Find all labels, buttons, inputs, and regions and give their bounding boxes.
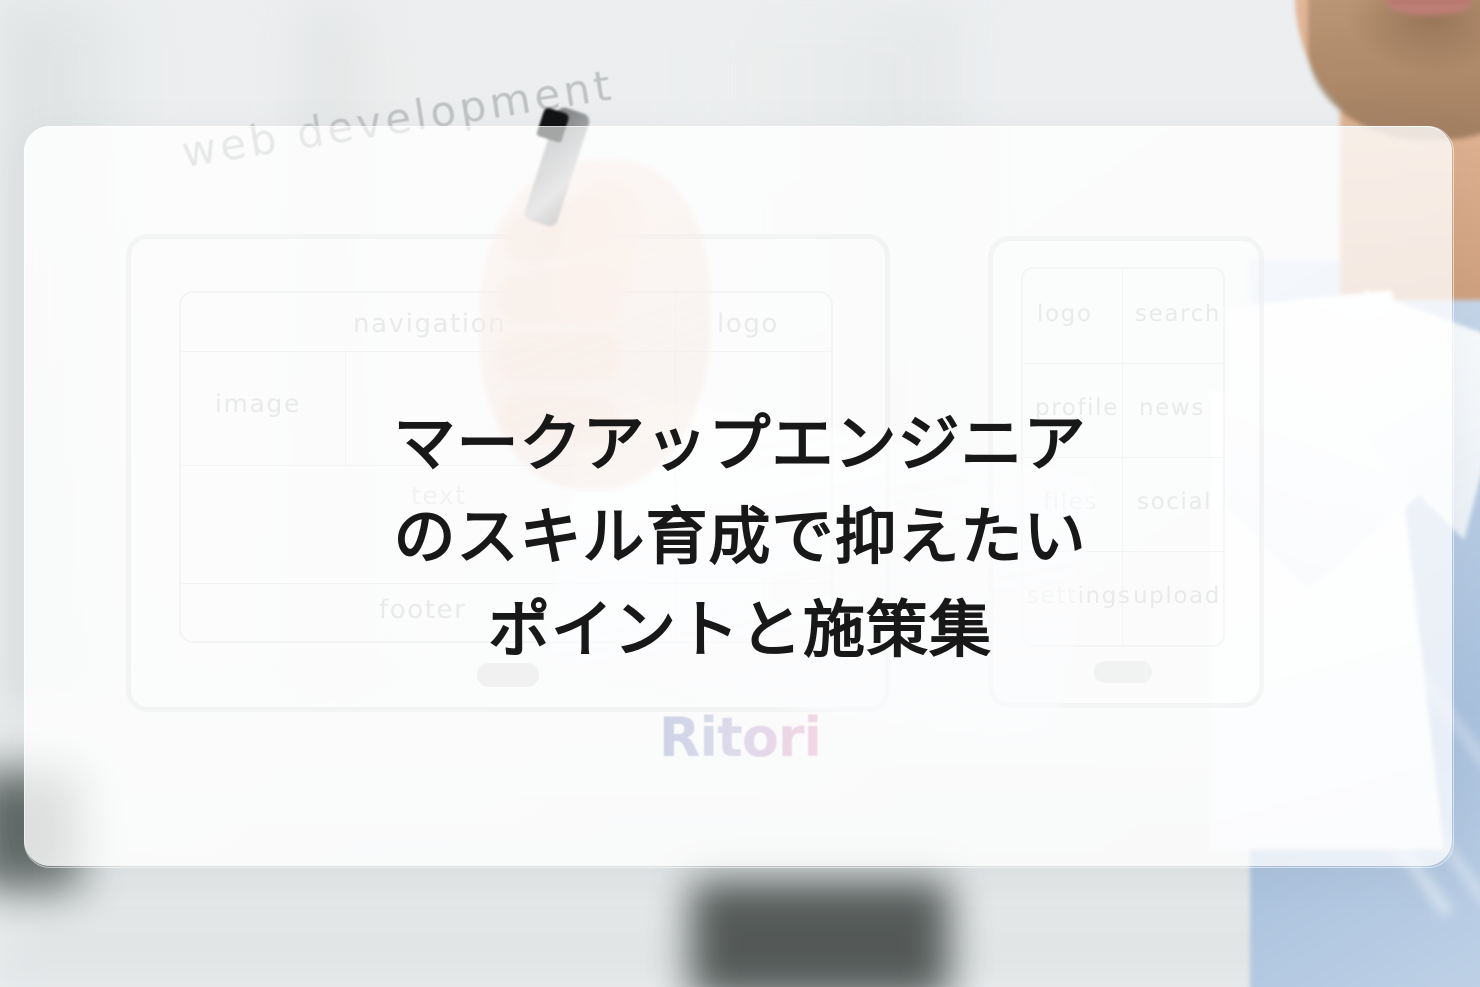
page-title: マークアップエンジニア のスキル育成で抑えたい ポイントと施策集 xyxy=(0,397,1480,676)
hero-banner: web development navigation logo image te… xyxy=(0,0,1480,987)
title-line-3: ポイントと施策集 xyxy=(0,583,1480,676)
title-line-1: マークアップエンジニア xyxy=(0,397,1480,490)
brand-logo: Ritori xyxy=(0,706,1480,769)
title-line-2: のスキル育成で抑えたい xyxy=(0,490,1480,583)
brand-logo-text: Ritori xyxy=(659,706,821,769)
